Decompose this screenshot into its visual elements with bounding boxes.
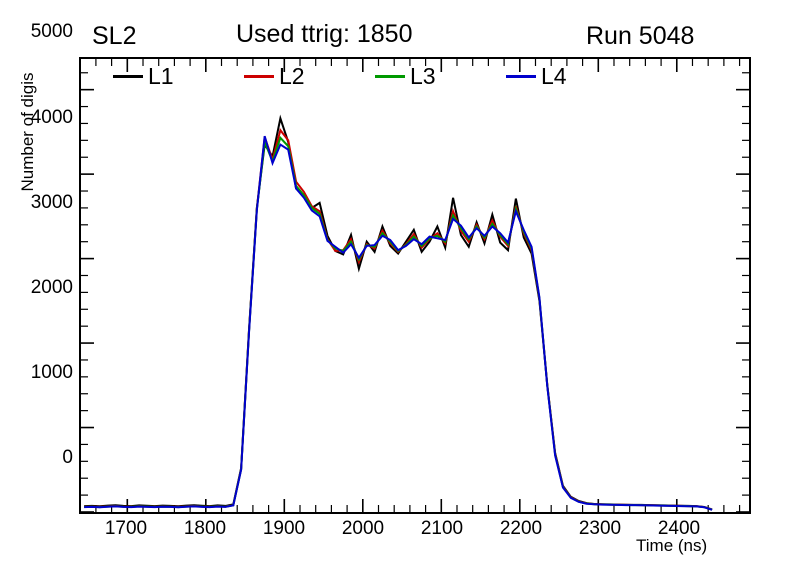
legend-entry-l4[interactable]: L4 <box>506 62 567 90</box>
legend: L1 L2 L3 L4 <box>113 62 593 90</box>
legend-entry-l2[interactable]: L2 <box>244 62 305 90</box>
x-tick-label: 2300 <box>579 519 621 538</box>
y-tick-label: 2000 <box>31 278 73 297</box>
x-tick-label: 1800 <box>184 519 226 538</box>
y-tick-label: 5000 <box>31 22 73 41</box>
series-l3 <box>84 138 712 510</box>
x-tick-label: 2400 <box>658 519 700 538</box>
x-tick-label: 2000 <box>342 519 384 538</box>
series-l4 <box>84 136 712 510</box>
y-tick-label: 0 <box>62 448 73 467</box>
legend-label-l4: L4 <box>541 65 567 88</box>
legend-entry-l3[interactable]: L3 <box>375 62 436 90</box>
series-l1 <box>84 118 712 509</box>
y-axis-tick-labels: 0 1000 2000 3000 4000 5000 <box>0 0 73 457</box>
data-plot <box>81 59 749 512</box>
legend-swatch-l3 <box>375 75 405 78</box>
y-tick-label: 4000 <box>31 108 73 127</box>
axis-ticks <box>81 59 749 512</box>
data-curves <box>84 118 712 509</box>
y-tick-label: 1000 <box>31 363 73 382</box>
x-axis-title: Time (ns) <box>636 536 707 556</box>
legend-label-l1: L1 <box>148 65 174 88</box>
plot-frame <box>79 57 751 514</box>
ttrig-title: Used ttrig: 1850 <box>236 22 413 47</box>
x-tick-label: 2100 <box>421 519 463 538</box>
legend-swatch-l1 <box>113 75 143 78</box>
x-tick-label: 1900 <box>263 519 305 538</box>
superlayer-label: SL2 <box>92 24 136 49</box>
legend-entry-l1[interactable]: L1 <box>113 62 174 90</box>
plot-canvas: SL2 Used ttrig: 1850 Run 5048 Number of … <box>0 0 796 572</box>
legend-swatch-l4 <box>506 75 536 78</box>
legend-label-l3: L3 <box>410 65 436 88</box>
x-tick-label: 1700 <box>105 519 147 538</box>
series-l2 <box>84 130 712 509</box>
legend-swatch-l2 <box>244 75 274 78</box>
y-tick-label: 3000 <box>31 193 73 212</box>
x-tick-label: 2200 <box>500 519 542 538</box>
run-label: Run 5048 <box>586 24 694 49</box>
legend-label-l2: L2 <box>279 65 305 88</box>
